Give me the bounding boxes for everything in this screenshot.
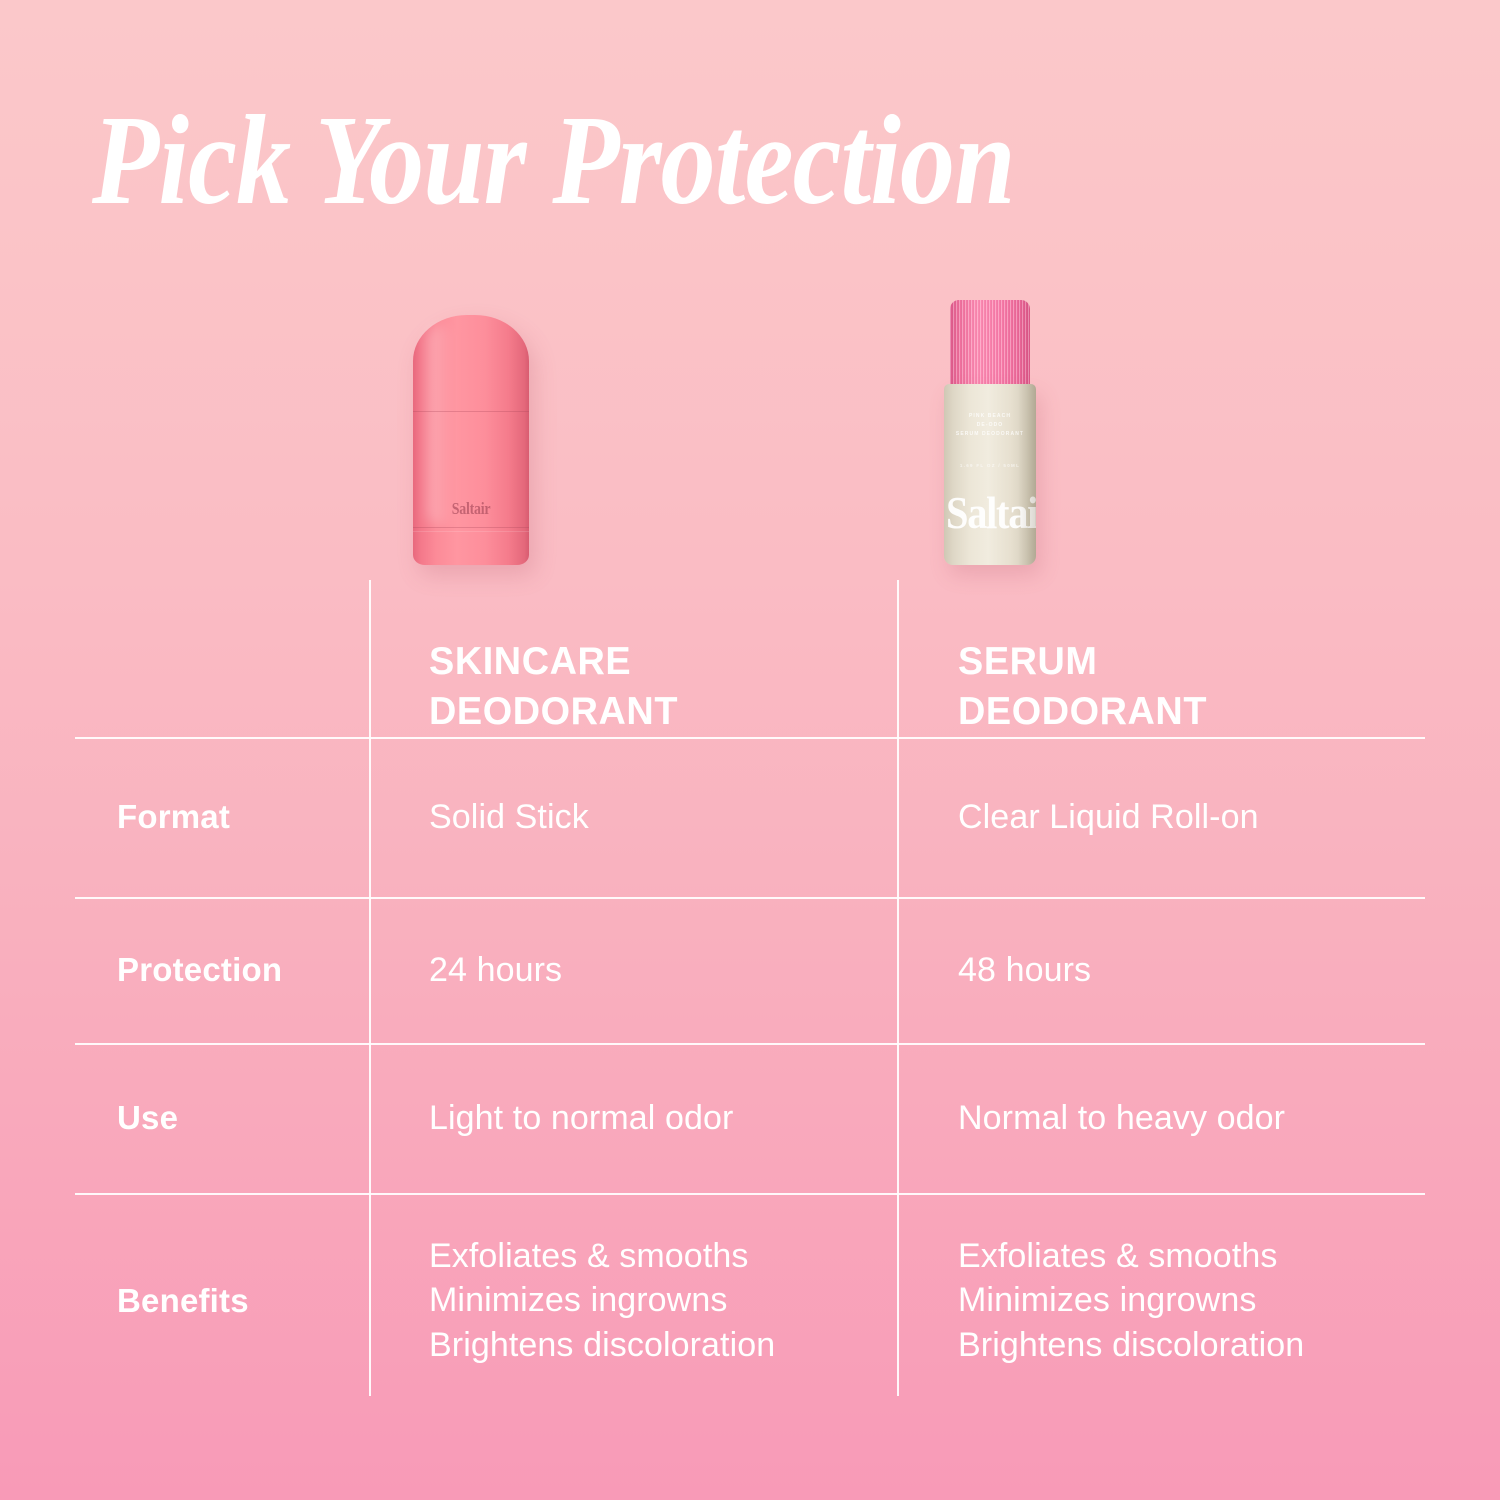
benefit-serum-1: Exfoliates & smooths bbox=[958, 1234, 1304, 1278]
row-value-cell-benefits-serum: Exfoliates & smooths Minimizes ingrowns … bbox=[898, 1193, 1425, 1408]
row-label-benefits: Benefits bbox=[117, 1282, 249, 1320]
product-images: Saltair PINK BEACH DE-ODO SERUM DEODORAN… bbox=[0, 290, 1500, 590]
header-cell-serum: SERUM DEODORANT bbox=[898, 609, 1425, 737]
row-value-cell-protection-skincare: 24 hours bbox=[370, 897, 898, 1043]
stick-highlight bbox=[427, 325, 453, 525]
row-value-benefits-serum: Exfoliates & smooths Minimizes ingrowns … bbox=[958, 1234, 1304, 1367]
serum-bottle-body: PINK BEACH DE-ODO SERUM DEODORANT 1.69 F… bbox=[944, 384, 1036, 565]
row-label-format: Format bbox=[117, 798, 230, 836]
row-value-cell-benefits-skincare: Exfoliates & smooths Minimizes ingrowns … bbox=[370, 1193, 898, 1408]
row-label-cell-use: Use bbox=[75, 1043, 370, 1193]
benefit-skincare-1: Exfoliates & smooths bbox=[429, 1234, 775, 1278]
row-value-format-skincare: Solid Stick bbox=[429, 795, 589, 839]
column-title-serum: SERUM DEODORANT bbox=[958, 637, 1207, 737]
stick-cap-seam bbox=[413, 411, 529, 412]
serum-label-line-2: DE-ODO bbox=[977, 422, 1004, 428]
row-value-cell-use-skincare: Light to normal odor bbox=[370, 1043, 898, 1193]
serum-label-line-3: SERUM DEODORANT bbox=[956, 431, 1024, 437]
product-image-skincare-deodorant[interactable]: Saltair bbox=[413, 315, 529, 565]
row-value-use-serum: Normal to heavy odor bbox=[958, 1096, 1285, 1140]
benefit-skincare-2: Minimizes ingrowns bbox=[429, 1278, 775, 1322]
table-header-row: SKINCARE DEODORANT SERUM DEODORANT bbox=[75, 578, 1425, 737]
stick-base-seam-highlight bbox=[413, 531, 529, 532]
row-value-cell-format-serum: Clear Liquid Roll-on bbox=[898, 737, 1425, 897]
table-rule-horizontal bbox=[75, 737, 1425, 739]
column-title-serum-line1: SERUM bbox=[958, 640, 1098, 683]
page-title: Pick Your Protection bbox=[92, 96, 1015, 224]
benefit-serum-3: Brightens discoloration bbox=[958, 1323, 1304, 1367]
row-value-benefits-skincare: Exfoliates & smooths Minimizes ingrowns … bbox=[429, 1234, 775, 1367]
row-value-cell-use-serum: Normal to heavy odor bbox=[898, 1043, 1425, 1193]
table-rule-horizontal bbox=[75, 897, 1425, 899]
benefit-skincare-3: Brightens discoloration bbox=[429, 1323, 775, 1367]
serum-label-line-1: PINK BEACH bbox=[969, 413, 1011, 419]
row-label-protection: Protection bbox=[117, 951, 282, 989]
header-cell-spacer bbox=[75, 709, 370, 737]
table-rule-horizontal bbox=[75, 1193, 1425, 1195]
serum-ribbed-cap bbox=[950, 300, 1030, 388]
row-value-cell-format-skincare: Solid Stick bbox=[370, 737, 898, 897]
stick-body: Saltair bbox=[413, 315, 529, 565]
row-value-protection-serum: 48 hours bbox=[958, 948, 1091, 992]
stick-wordmark: Saltair bbox=[423, 499, 518, 519]
benefit-serum-2: Minimizes ingrowns bbox=[958, 1278, 1304, 1322]
table-rule-vertical bbox=[369, 580, 371, 1396]
table-row: Format Solid Stick Clear Liquid Roll-on bbox=[75, 737, 1425, 897]
row-label-cell-format: Format bbox=[75, 737, 370, 897]
table-row: Use Light to normal odor Normal to heavy… bbox=[75, 1043, 1425, 1193]
row-value-protection-skincare: 24 hours bbox=[429, 948, 562, 992]
row-label-cell-protection: Protection bbox=[75, 897, 370, 1043]
product-image-serum-deodorant[interactable]: PINK BEACH DE-ODO SERUM DEODORANT 1.69 F… bbox=[944, 300, 1036, 565]
serum-shadow-edge bbox=[1018, 384, 1036, 565]
row-value-cell-protection-serum: 48 hours bbox=[898, 897, 1425, 1043]
column-title-skincare-line2: DEODORANT bbox=[429, 690, 678, 733]
comparison-table: SKINCARE DEODORANT SERUM DEODORANT Forma… bbox=[75, 578, 1425, 1408]
row-value-format-serum: Clear Liquid Roll-on bbox=[958, 795, 1259, 839]
column-title-skincare: SKINCARE DEODORANT bbox=[429, 637, 678, 737]
table-row: Protection 24 hours 48 hours bbox=[75, 897, 1425, 1043]
table-row: Benefits Exfoliates & smooths Minimizes … bbox=[75, 1193, 1425, 1408]
column-title-serum-line2: DEODORANT bbox=[958, 690, 1207, 733]
column-title-skincare-line1: SKINCARE bbox=[429, 640, 631, 683]
row-value-use-skincare: Light to normal odor bbox=[429, 1096, 733, 1140]
stick-base-seam bbox=[413, 527, 529, 528]
table-rule-horizontal bbox=[75, 1043, 1425, 1045]
table-rule-vertical bbox=[897, 580, 899, 1396]
row-label-use: Use bbox=[117, 1099, 178, 1137]
row-label-cell-benefits: Benefits bbox=[75, 1193, 370, 1408]
header-cell-skincare: SKINCARE DEODORANT bbox=[370, 609, 898, 737]
